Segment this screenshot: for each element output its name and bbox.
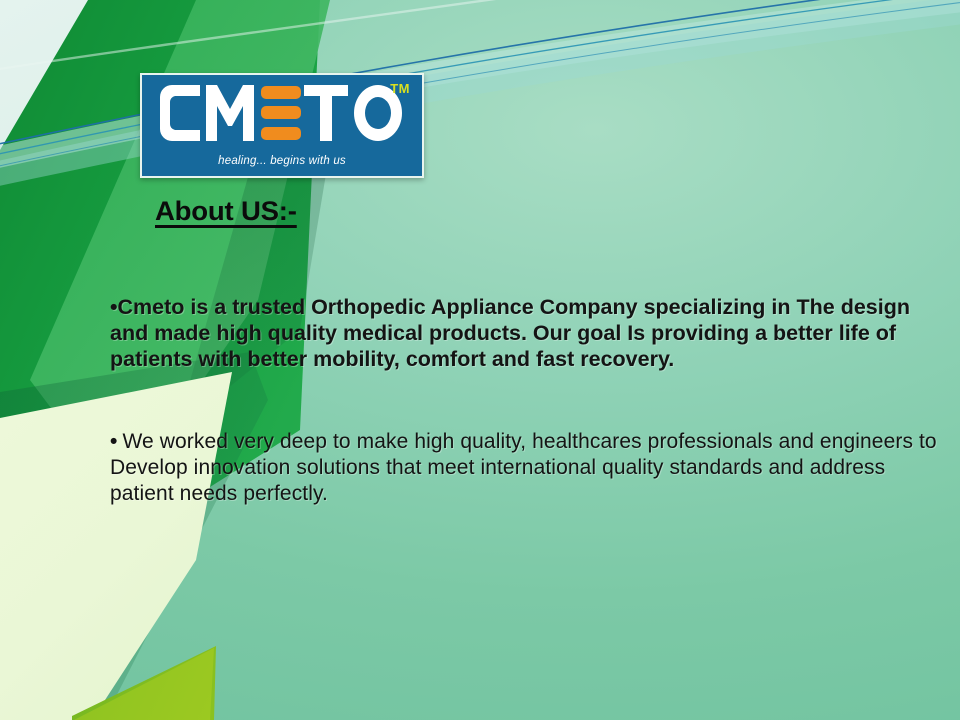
slide-canvas: TM healing... begins with us About US:- … [0, 0, 960, 720]
bullet-marker: • [110, 295, 118, 319]
bullet-text: Cmeto is a trusted Orthopedic Appliance … [110, 295, 910, 371]
bullet-paragraph-2: •We worked very deep to make high qualit… [110, 429, 938, 507]
cmeto-logo: TM healing... begins with us [140, 73, 424, 178]
page-title: About US:- [155, 196, 297, 227]
content-body: •Cmeto is a trusted Orthopedic Appliance… [110, 294, 938, 507]
logo-tagline: healing... begins with us [142, 155, 422, 167]
bullet-paragraph-1: •Cmeto is a trusted Orthopedic Appliance… [110, 294, 938, 372]
bullet-text: We worked very deep to make high quality… [110, 430, 937, 505]
bullet-marker: • [110, 430, 117, 453]
trademark-icon: TM [390, 81, 410, 96]
cmeto-wordmark-icon [156, 85, 406, 141]
